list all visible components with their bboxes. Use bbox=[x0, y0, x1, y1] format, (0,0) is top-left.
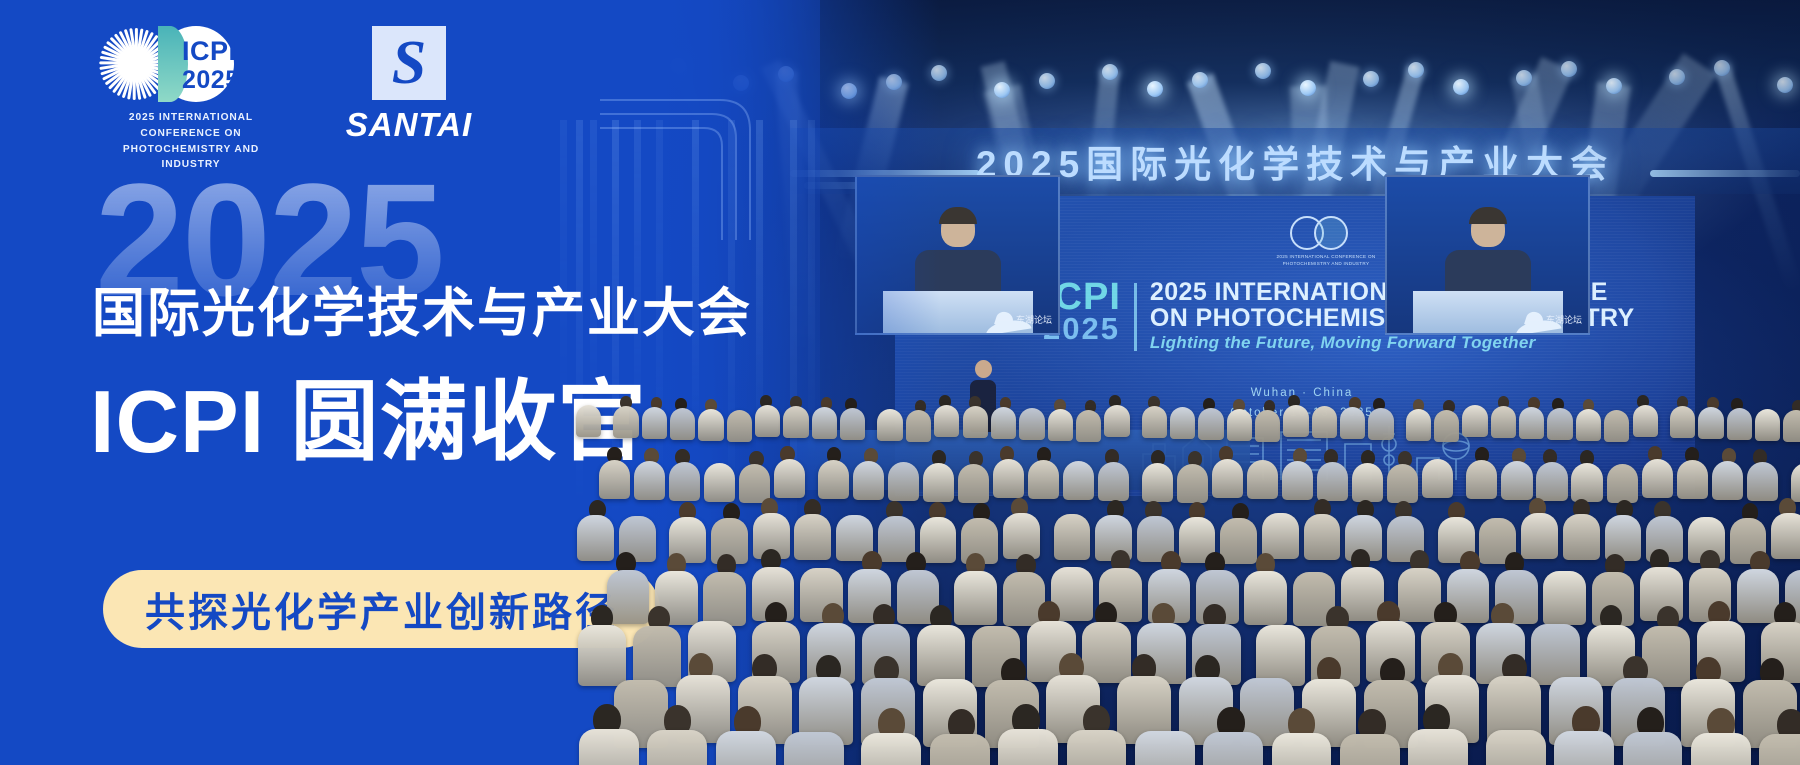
side-screen-badge-left: 东湖论坛 bbox=[985, 312, 1052, 327]
audience-chair bbox=[1255, 410, 1280, 442]
conference-recap-banner: 2025国际光化学技术与产业大会 2025 INTERNATIONAL CONF… bbox=[0, 0, 1800, 765]
ceiling-lamp-icon bbox=[1561, 61, 1577, 77]
audience-chair bbox=[647, 730, 707, 765]
ceiling-lamp-icon bbox=[994, 82, 1010, 98]
audience-chair bbox=[853, 461, 884, 500]
audience-chair bbox=[698, 409, 723, 441]
audience-chair bbox=[755, 405, 780, 437]
audience-chair bbox=[1576, 409, 1601, 441]
audience-chair bbox=[1142, 463, 1173, 502]
ceiling-lamp-icon bbox=[1192, 72, 1208, 88]
audience-chair bbox=[1727, 408, 1752, 440]
audience-chair bbox=[576, 405, 601, 437]
audience-chair bbox=[1531, 624, 1579, 685]
audience-chair bbox=[1519, 407, 1544, 439]
santai-monogram-letter: S bbox=[392, 32, 426, 94]
audience-chair bbox=[1028, 460, 1059, 499]
ceiling-lamp-icon bbox=[1408, 62, 1424, 78]
audience-chair bbox=[1698, 407, 1723, 439]
audience-chair bbox=[1076, 410, 1101, 442]
audience-chair bbox=[1212, 459, 1243, 498]
audience-chair bbox=[1521, 513, 1558, 559]
ceiling-lamp-icon bbox=[1102, 64, 1118, 80]
audience-chair bbox=[1003, 513, 1040, 559]
audience-chair bbox=[1272, 733, 1332, 765]
audience-chair bbox=[607, 570, 650, 624]
audience-chair bbox=[1304, 514, 1341, 560]
icpi-mark-line2: 2025 bbox=[182, 68, 240, 93]
ceiling-lamp-icon bbox=[1714, 60, 1730, 76]
audience-chair bbox=[1170, 407, 1195, 439]
hero-pill-badge: 共探光化学产业创新路径 bbox=[103, 570, 660, 648]
audience-chair bbox=[1486, 730, 1546, 765]
audience-chair bbox=[1177, 464, 1208, 503]
audience-chair bbox=[1466, 460, 1497, 499]
audience-chair bbox=[1691, 733, 1751, 765]
audience-chair bbox=[633, 626, 681, 687]
audience-chair bbox=[1082, 622, 1130, 683]
ceiling-lamp-icon bbox=[1147, 81, 1163, 97]
audience-chair bbox=[704, 463, 735, 502]
audience-chair bbox=[1571, 463, 1602, 502]
audience-chair bbox=[1312, 406, 1337, 438]
audience-chair bbox=[716, 731, 776, 765]
audience-chair bbox=[1352, 463, 1383, 502]
ceiling-lamp-icon bbox=[1255, 63, 1271, 79]
audience-chair bbox=[739, 464, 770, 503]
santai-wordmark: SANTAI bbox=[344, 106, 474, 144]
audience-chair bbox=[613, 406, 638, 438]
icpi-mark-line1: ICPI bbox=[182, 38, 240, 65]
audience-chair bbox=[1063, 461, 1094, 500]
audience-chair bbox=[998, 729, 1058, 765]
icpi-wordmark: ICPI 2025 bbox=[182, 38, 240, 93]
audience-chair bbox=[1408, 729, 1468, 765]
audience-chair bbox=[993, 459, 1024, 498]
audience-chair bbox=[917, 625, 965, 686]
audience-chair bbox=[703, 572, 746, 626]
ceiling-lamp-icon bbox=[1777, 77, 1793, 93]
audience-chair bbox=[1244, 571, 1287, 625]
audience-chair bbox=[1256, 625, 1304, 686]
hero-title: ICPI 圆满收官 bbox=[90, 378, 647, 466]
audience-chair bbox=[1142, 406, 1167, 438]
decorative-arc-lines bbox=[600, 90, 860, 240]
ceiling-lamp-icon bbox=[1453, 79, 1469, 95]
audience-chair bbox=[1227, 409, 1252, 441]
audience-chair bbox=[1543, 571, 1586, 625]
hero-pill-text: 共探光化学产业创新路径 bbox=[145, 580, 618, 638]
audience-chair bbox=[1747, 462, 1778, 501]
audience-chair bbox=[888, 462, 919, 501]
audience-chair bbox=[1755, 409, 1780, 441]
wall-icpi-sub2: PHOTOCHEMISTRY AND INDUSTRY bbox=[1283, 261, 1370, 266]
audience-chair bbox=[1604, 410, 1629, 442]
santai-logo: S SANTAI bbox=[344, 26, 474, 144]
audience-chair bbox=[1262, 513, 1299, 559]
audience-chair bbox=[1406, 409, 1431, 441]
audience-chair bbox=[1054, 514, 1091, 560]
audience-chair bbox=[1501, 461, 1532, 500]
audience-chair bbox=[923, 463, 954, 502]
audience-chair bbox=[578, 625, 626, 686]
audience-chair bbox=[1282, 461, 1313, 500]
audience-chair bbox=[930, 734, 990, 765]
audience-chair bbox=[1633, 405, 1658, 437]
audience-chair bbox=[670, 408, 695, 440]
audience-chair bbox=[1048, 409, 1073, 441]
audience-chair bbox=[1670, 406, 1695, 438]
audience-chair bbox=[1491, 406, 1516, 438]
audience-chair bbox=[1642, 459, 1673, 498]
audience-chair bbox=[794, 514, 831, 560]
audience-chair bbox=[920, 517, 957, 563]
audience-chair bbox=[1623, 732, 1683, 765]
audience-chair bbox=[1340, 734, 1400, 765]
ceiling-lamp-icon bbox=[1516, 70, 1532, 86]
audience-chair bbox=[774, 459, 805, 498]
audience-chair bbox=[1422, 459, 1453, 498]
ceiling-lamp-icon bbox=[1039, 73, 1055, 89]
icpi-logo-icon: ICPI 2025 bbox=[96, 26, 286, 102]
audience-chair bbox=[1340, 407, 1365, 439]
audience-chair bbox=[1771, 513, 1800, 559]
audience-chair bbox=[783, 406, 808, 438]
audience-chair bbox=[1387, 464, 1418, 503]
audience-chair bbox=[861, 733, 921, 765]
audience-chair bbox=[934, 405, 959, 437]
audience-chair bbox=[991, 407, 1016, 439]
audience-chair bbox=[1434, 410, 1459, 442]
santai-monogram-icon: S bbox=[372, 26, 446, 100]
icpi-subtitle-line1: 2025 INTERNATIONAL CONFERENCE ON bbox=[96, 110, 286, 142]
audience-chair bbox=[1547, 408, 1572, 440]
wall-icpi-sub1: 2025 INTERNATIONAL CONFERENCE ON bbox=[1277, 254, 1376, 259]
hero-subtitle: 国际光化学技术与产业大会 bbox=[92, 287, 752, 340]
audience-chair bbox=[812, 407, 837, 439]
ceiling-lamp-icon bbox=[1606, 78, 1622, 94]
audience-chair bbox=[958, 464, 989, 503]
audience-chair bbox=[954, 571, 997, 625]
ceiling-lamp-icon bbox=[1669, 69, 1685, 85]
audience-chair bbox=[1677, 460, 1708, 499]
audience-chair bbox=[599, 460, 630, 499]
audience-chair bbox=[1554, 731, 1614, 765]
audience-chair bbox=[1607, 464, 1638, 503]
audience-chair bbox=[1563, 514, 1600, 560]
audience-chair bbox=[1536, 462, 1567, 501]
audience-chair bbox=[727, 410, 752, 442]
side-screen-badge-right: 东湖论坛 bbox=[1515, 312, 1582, 327]
audience-chair bbox=[1368, 408, 1393, 440]
audience-chair bbox=[579, 729, 639, 765]
audience-chair bbox=[818, 460, 849, 499]
audience-chair bbox=[906, 410, 931, 442]
audience-chair bbox=[1098, 462, 1129, 501]
audience-chair bbox=[1791, 463, 1800, 502]
audience-chair bbox=[1317, 462, 1348, 501]
audience-chair bbox=[1462, 405, 1487, 437]
audience-chair bbox=[669, 462, 700, 501]
audience-chair bbox=[1019, 408, 1044, 440]
audience-chair bbox=[877, 409, 902, 441]
audience-chair bbox=[1283, 405, 1308, 437]
side-screen-right: 东湖论坛 bbox=[1385, 175, 1590, 335]
audience-chair bbox=[634, 461, 665, 500]
audience-chair bbox=[577, 515, 614, 561]
audience-chair bbox=[840, 408, 865, 440]
audience-chair bbox=[1198, 408, 1223, 440]
audience-chair bbox=[963, 406, 988, 438]
donghu-swoosh-icon bbox=[985, 312, 1011, 327]
audience-chair bbox=[1712, 461, 1743, 500]
audience-chair bbox=[1067, 730, 1127, 765]
audience-chair bbox=[1247, 460, 1278, 499]
audience-chair bbox=[642, 407, 667, 439]
audience-chair bbox=[1135, 731, 1195, 765]
audience-chair bbox=[1220, 518, 1257, 564]
audience-chair bbox=[1759, 734, 1800, 765]
ceiling-lamp-icon bbox=[1300, 80, 1316, 96]
audience-chair bbox=[1104, 405, 1129, 437]
ceiling-lamp-icon bbox=[1363, 71, 1379, 87]
audience-chair bbox=[784, 732, 844, 765]
wall-icpi-logo-icon: 2025 INTERNATIONAL CONFERENCE ON PHOTOCH… bbox=[1290, 216, 1360, 250]
donghu-swoosh-icon bbox=[1515, 312, 1541, 327]
audience-chair bbox=[1203, 732, 1263, 765]
audience-chair bbox=[1783, 410, 1800, 442]
